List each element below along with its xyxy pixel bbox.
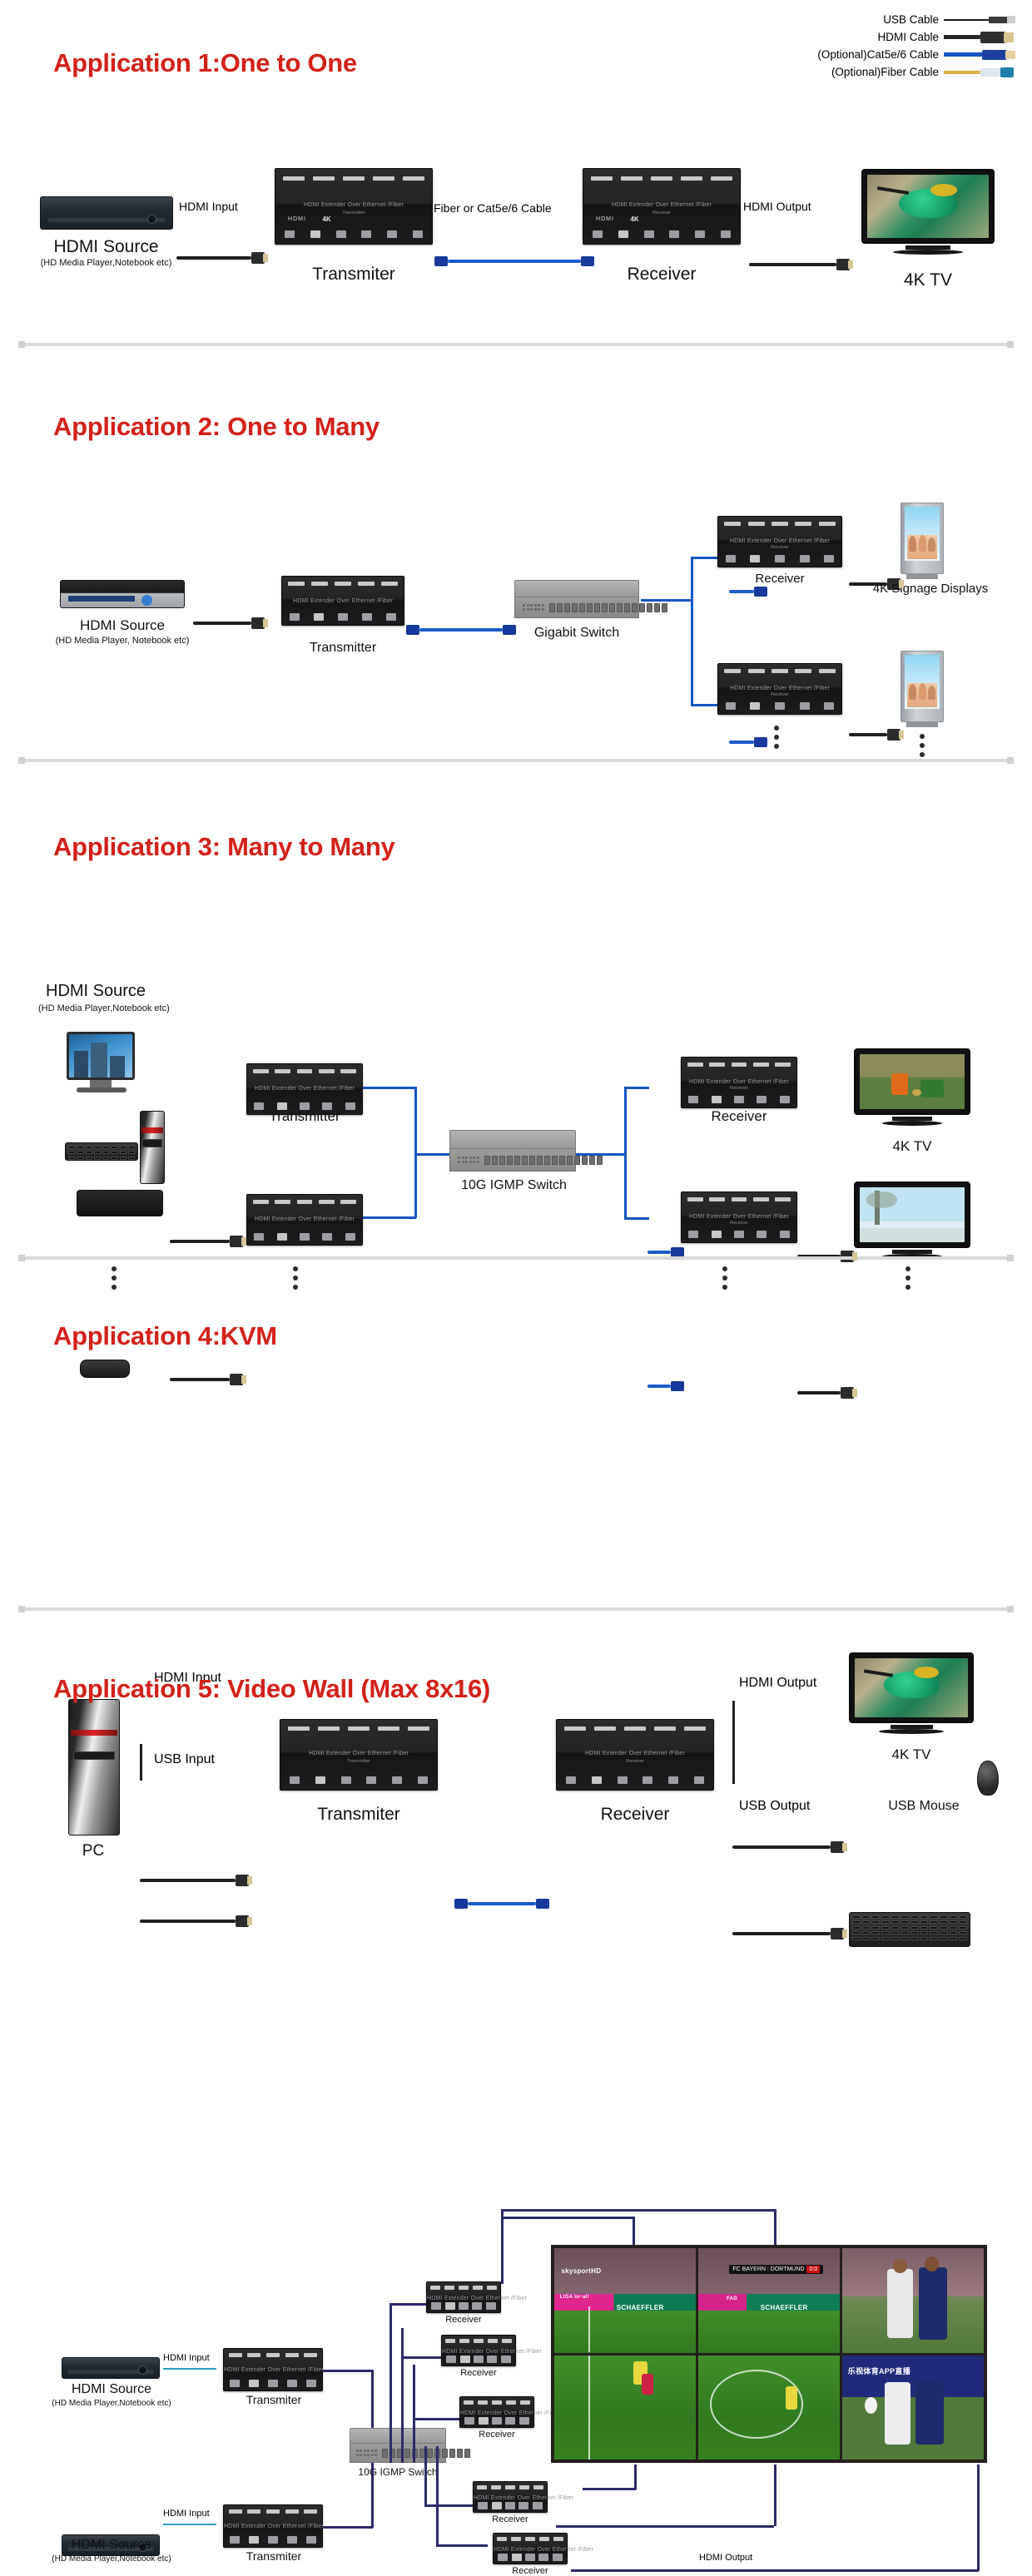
app5-source-1-device xyxy=(62,2357,160,2379)
app5-transmitter-2-label: Transmiter xyxy=(221,2549,326,2563)
app3-rx1-branch xyxy=(624,1087,649,1089)
app4-mouse-label: USB Mouse xyxy=(849,1799,999,1814)
app4-receiver-label: Receiver xyxy=(556,1805,714,1825)
app3-hdmi-cable-1 xyxy=(170,1240,230,1243)
app3-monitor-device xyxy=(67,1032,135,1080)
app5-receiver-4-label: Receiver xyxy=(473,2514,548,2524)
app5-igmp-switch-device xyxy=(350,2428,446,2463)
app4-transmitter-device: HDMI Extender Over Ethernet /Fiber Trans… xyxy=(280,1719,438,1791)
app4-diagram: PC HDMI Input USB Input HDMI Extender Ov… xyxy=(0,270,1032,458)
app5-hdmi-cable-1 xyxy=(163,2368,216,2370)
device-role-text: Receiver xyxy=(718,545,841,550)
app3-game-console xyxy=(77,1190,163,1216)
app5-receiver-3-label: Receiver xyxy=(459,2430,534,2440)
app5-receiver-5-device: HDMI Extender Over Ethernet /Fiber xyxy=(493,2533,568,2564)
app5-rx-riser-a xyxy=(389,2303,392,2463)
wall-scoreboard-teams: FC BAYERN : DORTMUND xyxy=(732,2266,804,2272)
app4-usb-input-cable xyxy=(140,1920,236,1923)
app3-monitor-stand xyxy=(90,1080,112,1087)
video-wall-cell-3 xyxy=(842,2248,984,2353)
app4-mouse xyxy=(977,1761,999,1796)
app3-pc-tower xyxy=(140,1111,165,1184)
app2-branch-trunk xyxy=(641,599,692,602)
app4-output-riser xyxy=(732,1701,735,1784)
app5-wall-bottom-riser-3 xyxy=(977,2465,980,2571)
app5-hdmi-input-1-label: HDMI Input xyxy=(163,2353,210,2363)
app3-gamepad xyxy=(80,1360,130,1378)
app5-receiver-1-device: HDMI Extender Over Ethernet /Fiber xyxy=(426,2281,501,2313)
app3-transmitter-1-label: Transmitter xyxy=(238,1108,371,1125)
app5-source-2-sublabel: (HD Media Player,Notebook etc) xyxy=(37,2554,186,2564)
app3-tx-riser xyxy=(414,1087,417,1218)
app3-more-rx-dots xyxy=(722,1266,727,1290)
wall-cn-banner: 乐视体育APP直播 xyxy=(848,2365,910,2376)
app3-tx1-link xyxy=(363,1087,416,1089)
app5-hdmi-output-label: HDMI Output xyxy=(699,2553,752,2563)
app4-tv-device xyxy=(849,1652,974,1739)
app3-tv-2-device xyxy=(854,1181,970,1263)
app2-receiver-2-device: HDMI Extender Over Ethernet /Fiber Recei… xyxy=(717,663,842,715)
app4-hdmi-output-label: HDMI Output xyxy=(739,1676,816,1691)
device-role-text: Transmitter xyxy=(280,1759,437,1764)
app3-more-tv-dots xyxy=(905,1266,910,1290)
app3-receiver-1-device: HDMI Extender Over Ethernet /Fiber Recei… xyxy=(681,1057,797,1108)
app5-hdmi-input-2-label: HDMI Input xyxy=(163,2509,210,2519)
app3-switch-in xyxy=(414,1153,453,1156)
app2-rx2-hdmi-cable xyxy=(849,733,887,736)
app5-wall-bottom-riser-2 xyxy=(774,2465,776,2526)
app5-receiver-2-device: HDMI Extender Over Ethernet /Fiber xyxy=(441,2335,516,2366)
app5-source-1-sublabel: (HD Media Player,Notebook etc) xyxy=(37,2399,186,2408)
app3-transmitter-1-device: HDMI Extender Over Ethernet /Fiber xyxy=(246,1063,363,1115)
app4-transmitter-label: Transmiter xyxy=(280,1805,438,1825)
wall-ad-left: LIGA to~al! xyxy=(560,2295,589,2300)
app2-rx2-cable xyxy=(729,741,754,744)
app5-wall-top-feed-2 xyxy=(501,2209,776,2212)
app5-transmitter-2-device: HDMI Extender Over Ethernet /Fiber xyxy=(223,2504,323,2548)
app5-receiver-4-device: HDMI Extender Over Ethernet /Fiber xyxy=(473,2481,548,2513)
app5-rx-riser-d xyxy=(424,2446,427,2506)
app5-rx-riser-e xyxy=(436,2446,439,2544)
app3-tv-1-device xyxy=(854,1048,970,1130)
app2-signage-display-1 xyxy=(901,503,944,574)
app2-more-displays-dots xyxy=(920,734,925,757)
device-brand-text: HDMI Extender Over Ethernet /Fiber xyxy=(224,2524,322,2529)
app4-keyboard xyxy=(849,1912,970,1947)
app2-rx1-cable xyxy=(729,590,754,593)
device-role-text: Receiver xyxy=(718,692,841,697)
video-wall-cell-4 xyxy=(554,2356,696,2460)
app3-keyboard xyxy=(65,1142,138,1161)
app3-source-sublabel: (HD Media Player,Notebook etc) xyxy=(38,1003,213,1013)
app4-title: Application 4:KVM xyxy=(53,1321,277,1351)
section-divider-3 xyxy=(18,1256,1014,1260)
app4-hdmi-output-cable xyxy=(732,1845,831,1849)
app5-receiver-1-label: Receiver xyxy=(426,2315,501,2325)
app1-diagram: HDMI Source (HD Media Player,Notebook et… xyxy=(0,0,1032,43)
app3-source-label: HDMI Source xyxy=(46,982,196,1001)
device-brand-text: HDMI Extender Over Ethernet /Fiber xyxy=(282,598,404,604)
app5-transmitter-1-device: HDMI Extender Over Ethernet /Fiber xyxy=(223,2348,323,2391)
app3-rx1-cable xyxy=(647,1251,671,1254)
device-brand-text: HDMI Extender Over Ethernet /Fiber xyxy=(494,2547,567,2553)
device-brand-text: HDMI Extender Over Ethernet /Fiber xyxy=(682,1214,796,1220)
app5-wall-bottom-riser-1 xyxy=(634,2465,637,2489)
app2-branch-riser xyxy=(691,557,693,706)
video-wall: skysportHD LIGA to~al! SCHAEFFLER FC BAY… xyxy=(551,2245,987,2463)
app5-title: Application 5: Video Wall (Max 8x16) xyxy=(53,1674,490,1704)
app3-rx-riser xyxy=(624,1087,627,1220)
app3-igmp-switch-device xyxy=(449,1130,576,1172)
section-divider-4 xyxy=(18,1608,1014,1611)
app2-source-label: HDMI Source xyxy=(43,617,201,634)
app5-wall-bottom-feed-3 xyxy=(571,2569,979,2572)
app2-hdmi-source-device xyxy=(60,580,185,608)
wall-broadcaster-label: skysportHD xyxy=(562,2267,602,2275)
app5-rx3-branch xyxy=(413,2418,464,2420)
app3-hdmi-cable-2 xyxy=(170,1378,230,1381)
app2-switch-label: Gigabit Switch xyxy=(510,626,643,641)
device-brand-text: HDMI Extender Over Ethernet /Fiber xyxy=(442,2349,515,2355)
app3-more-tx-dots xyxy=(293,1266,298,1290)
app5-wall-bottom-feed-2 xyxy=(556,2525,774,2528)
app4-usb-output-cable xyxy=(732,1932,831,1935)
app2-signage-display-2 xyxy=(901,651,944,722)
app5-wall-bottom-feed-1 xyxy=(583,2488,636,2490)
app3-transmitter-2-device: HDMI Extender Over Ethernet /Fiber xyxy=(246,1194,363,1246)
wall-ad-sponsor2: SCHAEFFLER xyxy=(761,2304,808,2311)
device-role-text: Receiver xyxy=(557,1759,713,1764)
device-brand-text: HDMI Extender Over Ethernet /Fiber xyxy=(718,686,841,691)
app5-transmitter-1-label: Transmiter xyxy=(221,2393,326,2406)
app5-source-2-label: HDMI Source xyxy=(45,2538,178,2553)
app4-pc-label: PC xyxy=(60,1842,127,1860)
app3-diagram: HDMI Source (HD Media Player,Notebook et… xyxy=(0,92,1032,270)
app5-rx5-branch xyxy=(436,2544,488,2547)
device-role-text: Receiver xyxy=(682,1086,796,1091)
app3-rx2-hdmi-cable xyxy=(797,1391,841,1395)
app2-more-receivers-dots xyxy=(774,726,779,749)
app4-usb-input-label: USB Input xyxy=(154,1752,215,1767)
app2-source-sublabel: (HD Media Player, Notebook etc) xyxy=(35,636,210,646)
device-brand-text: HDMI Extender Over Ethernet /Fiber xyxy=(682,1079,796,1085)
app4-tv-label: 4K TV xyxy=(849,1746,974,1763)
app2-receiver-1-device: HDMI Extender Over Ethernet /Fiber Recei… xyxy=(717,516,842,567)
app4-network-cable xyxy=(468,1902,536,1905)
app5-receiver-2-label: Receiver xyxy=(441,2368,516,2378)
device-brand-text: HDMI Extender Over Ethernet /Fiber xyxy=(247,1216,362,1222)
app5-rx-riser-c xyxy=(413,2365,415,2463)
app2-transmitter-label: Transmitter xyxy=(281,641,404,656)
app5-diagram: HDMI Source (HD Media Player,Notebook et… xyxy=(0,458,1032,501)
wall-ad-sponsor: SCHAEFFLER xyxy=(617,2304,664,2311)
app2-network-cable xyxy=(419,628,503,632)
device-brand-text: HDMI Extender Over Ethernet /Fiber xyxy=(557,1751,713,1756)
app4-hdmi-input-cable xyxy=(140,1879,236,1882)
app3-more-sources-dots xyxy=(112,1266,117,1290)
app5-rx4-branch xyxy=(424,2504,476,2507)
app4-usb-output-label: USB Output xyxy=(739,1799,810,1814)
app5-rx-riser-b xyxy=(401,2328,404,2463)
app3-title: Application 3: Many to Many xyxy=(53,832,394,862)
device-brand-text: HDMI Extender Over Ethernet /Fiber xyxy=(718,538,841,544)
app2-gigabit-switch-device xyxy=(514,580,639,618)
app5-tx1-link xyxy=(323,2370,373,2372)
app2-hdmi-cable xyxy=(193,622,251,625)
app5-hdmi-cable-2 xyxy=(163,2524,216,2525)
app2-receiver-label: Receiver xyxy=(717,572,842,586)
app3-switch-label: 10G IGMP Switch xyxy=(441,1178,587,1193)
app5-receiver-5-label: Receiver xyxy=(493,2566,568,2576)
app5-receiver-3-device: HDMI Extender Over Ethernet /Fiber xyxy=(459,2396,534,2428)
app2-displays-label: 4K Signage Displays xyxy=(847,582,1014,596)
section-divider-2 xyxy=(18,759,1014,762)
app5-switch-label: 10G IGMP Switch xyxy=(331,2466,464,2478)
app2-diagram: HDMI Source (HD Media Player, Notebook e… xyxy=(0,43,1032,92)
app5-source-1-label: HDMI Source xyxy=(45,2382,178,2397)
app5-tx2-link xyxy=(323,2526,373,2529)
app3-switch-out xyxy=(576,1153,626,1156)
video-wall-cell-1: skysportHD LIGA to~al! SCHAEFFLER xyxy=(554,2248,696,2353)
wall-ad-fag: FAG xyxy=(727,2296,737,2301)
wall-scoreboard: FC BAYERN : DORTMUND0:0 xyxy=(729,2265,823,2274)
device-brand-text: HDMI Extender Over Ethernet /Fiber xyxy=(247,1086,362,1092)
device-brand-text: HDMI Extender Over Ethernet /Fiber xyxy=(427,2296,500,2301)
device-role-text: Receiver xyxy=(682,1221,796,1226)
app4-receiver-device: HDMI Extender Over Ethernet /Fiber Recei… xyxy=(556,1719,714,1791)
app3-monitor-base xyxy=(77,1087,127,1092)
video-wall-cell-6: 乐视体育APP直播 xyxy=(842,2356,984,2460)
app4-input-riser xyxy=(140,1744,142,1781)
app3-tx2-link xyxy=(363,1216,416,1219)
wall-score: 0:0 xyxy=(806,2266,820,2273)
device-brand-text: HDMI Extender Over Ethernet /Fiber xyxy=(280,1751,437,1756)
device-brand-text: HDMI Extender Over Ethernet /Fiber xyxy=(224,2367,322,2373)
app3-receiver-2-device: HDMI Extender Over Ethernet /Fiber Recei… xyxy=(681,1191,797,1243)
app3-tv-1-label: 4K TV xyxy=(854,1138,970,1155)
app2-transmitter-device: HDMI Extender Over Ethernet /Fiber xyxy=(281,576,404,626)
app4-pc-device xyxy=(68,1699,120,1835)
video-wall-cell-2: FC BAYERN : DORTMUND0:0 FAG SCHAEFFLER xyxy=(698,2248,840,2353)
device-brand-text: HDMI Extender Over Ethernet /Fiber xyxy=(474,2495,547,2501)
app3-rx2-cable xyxy=(647,1385,671,1388)
app3-rx2-branch xyxy=(624,1217,649,1220)
video-wall-cell-5 xyxy=(698,2356,840,2460)
device-brand-text: HDMI Extender Over Ethernet /Fiber xyxy=(460,2410,533,2416)
app5-wall-left-riser xyxy=(501,2209,504,2284)
app5-wall-top-feed-1 xyxy=(501,2217,634,2219)
app3-receiver-1-label: Receiver xyxy=(672,1108,806,1125)
